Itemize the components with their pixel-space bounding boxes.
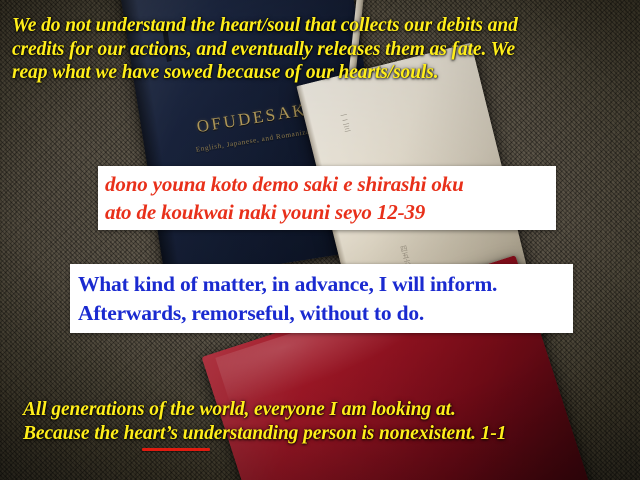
slide-canvas: OFUDESAKI English, Japanese, and Romaniz… bbox=[0, 0, 640, 480]
romaji-verse-box: dono youna koto demo saki e shirashi oku… bbox=[98, 166, 556, 230]
hearts-underline-mark bbox=[142, 448, 210, 451]
romaji-verse-text: dono youna koto demo saki e shirashi oku… bbox=[105, 170, 464, 226]
english-verse-box: What kind of matter, in advance, I will … bbox=[70, 264, 573, 333]
english-verse-text: What kind of matter, in advance, I will … bbox=[78, 270, 497, 328]
bottom-commentary-text: All generations of the world, everyone I… bbox=[23, 398, 631, 445]
cream-notebook-margin-handwriting: 一二三 bbox=[338, 111, 352, 134]
top-commentary-text: We do not understand the heart/soul that… bbox=[12, 14, 632, 85]
